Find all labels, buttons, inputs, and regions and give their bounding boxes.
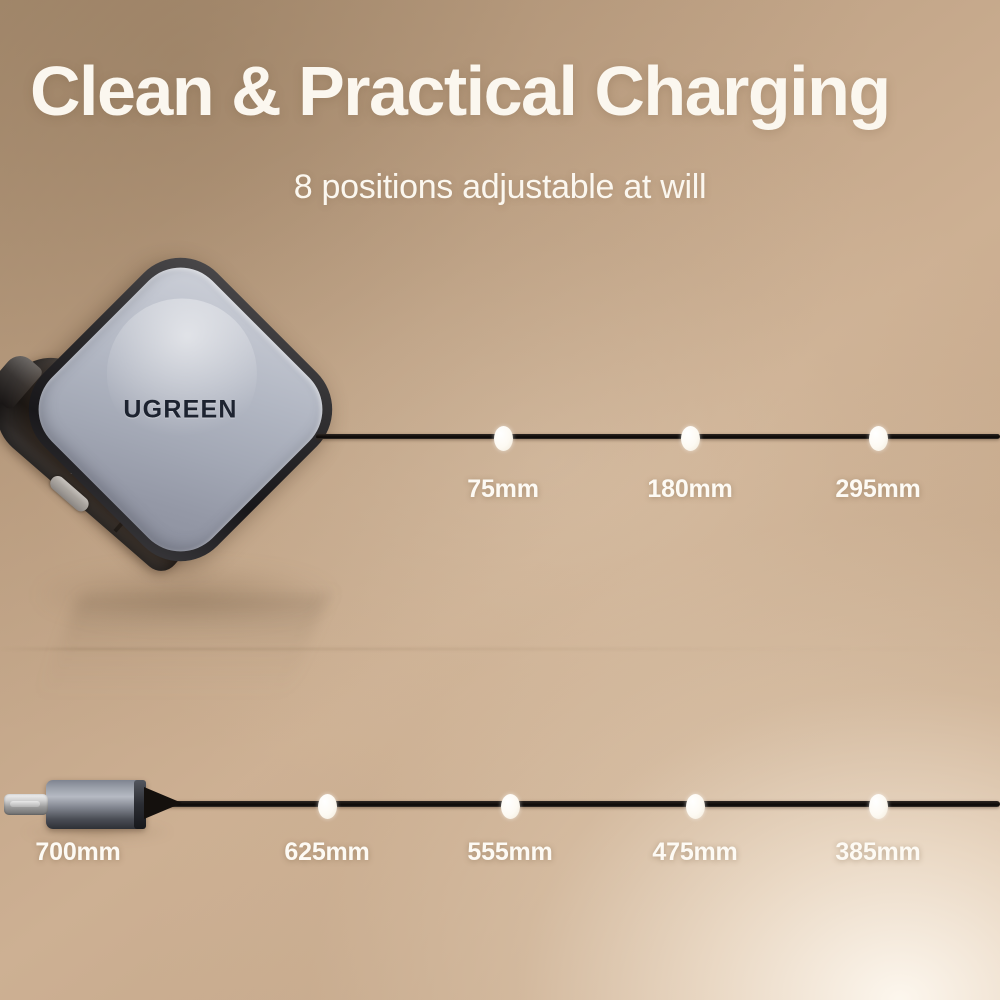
- page-title: Clean & Practical Charging: [30, 55, 985, 129]
- measurement-label-385mm: 385mm: [778, 838, 978, 867]
- measurement-label-700mm: 700mm: [0, 838, 178, 867]
- car-charger-device: EAL CE FCC RoHS UGREEN: [0, 265, 400, 685]
- measurement-label-75mm: 75mm: [403, 475, 603, 504]
- measurement-label-475mm: 475mm: [595, 838, 795, 867]
- connector-strain-relief: [144, 787, 182, 819]
- measurement-label-295mm: 295mm: [778, 475, 978, 504]
- measurement-node: [869, 794, 888, 819]
- measurement-node: [501, 794, 520, 819]
- usb-c-connector: [2, 775, 177, 833]
- connector-tip-slot: [10, 801, 40, 807]
- charger-head-highlight: [76, 267, 288, 479]
- charger-head-face: UGREEN: [20, 249, 341, 570]
- measurement-node: [869, 426, 888, 451]
- product-image-stage: Clean & Practical Charging 8 positions a…: [0, 0, 1000, 1000]
- page-subtitle: 8 positions adjustable at will: [0, 168, 1000, 207]
- connector-body: [46, 780, 146, 829]
- cable-line-top: [316, 434, 1000, 439]
- measurement-label-625mm: 625mm: [227, 838, 427, 867]
- measurement-node: [681, 426, 700, 451]
- measurement-node: [686, 794, 705, 819]
- measurement-node: [494, 426, 513, 451]
- ugreen-brand-logo: UGREEN: [123, 395, 237, 424]
- measurement-label-555mm: 555mm: [410, 838, 610, 867]
- charger-head: UGREEN: [7, 236, 353, 582]
- measurement-label-180mm: 180mm: [590, 475, 790, 504]
- charger-reflection: [31, 595, 329, 715]
- measurement-node: [318, 794, 337, 819]
